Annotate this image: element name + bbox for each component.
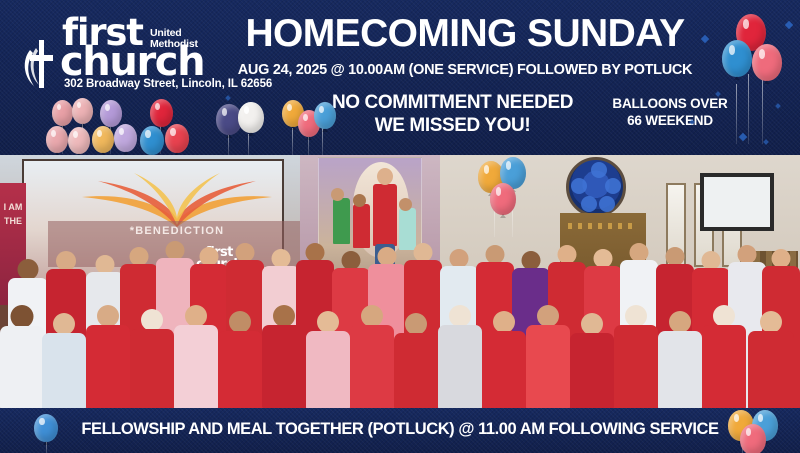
sparkle-icon bbox=[775, 103, 781, 109]
balloon-string bbox=[748, 74, 749, 144]
person bbox=[262, 305, 306, 408]
event-tagline: NO COMMITMENT NEEDED WE MISSED YOU! bbox=[300, 91, 605, 137]
person bbox=[174, 305, 218, 408]
person bbox=[130, 309, 174, 408]
person bbox=[0, 305, 44, 408]
person bbox=[526, 305, 570, 408]
balloon-blue bbox=[34, 414, 58, 442]
person bbox=[306, 311, 350, 408]
balloonfest-note: BALLOONS OVER 66 WEEKEND bbox=[600, 96, 740, 130]
hanging-display-frame bbox=[700, 173, 774, 231]
header-banner: first United Methodist church 302 Broadw… bbox=[0, 0, 800, 155]
rose-stained-glass-window bbox=[566, 157, 626, 217]
balloon-red bbox=[165, 124, 189, 153]
balloon-purple bbox=[114, 124, 137, 152]
balloon-blue bbox=[722, 40, 752, 77]
logo-text-church: church bbox=[60, 42, 204, 82]
balloon-pink bbox=[490, 183, 516, 215]
adult-head bbox=[377, 168, 393, 185]
child-head bbox=[353, 194, 366, 207]
church-logo: first United Methodist church 302 Broadw… bbox=[22, 16, 234, 98]
person bbox=[86, 305, 130, 408]
sparkle-icon bbox=[785, 21, 793, 29]
person bbox=[482, 311, 526, 408]
balloon-string bbox=[248, 134, 249, 155]
footer-text: FELLOWSHIP AND MEAL TOGETHER (POTLUCK) @… bbox=[0, 421, 800, 438]
screen-caption-text: *BENEDICTION bbox=[48, 225, 306, 237]
sparkle-icon bbox=[739, 133, 747, 141]
child-head bbox=[399, 198, 412, 211]
page-title: HOMECOMING SUNDAY bbox=[210, 14, 720, 53]
person bbox=[394, 313, 438, 408]
child-green bbox=[333, 198, 350, 244]
congregation-photo: *BENEDICTION first church 302 Broadway S… bbox=[0, 155, 800, 408]
person bbox=[218, 311, 262, 408]
logo-address: 302 Broadway Street, Lincoln, IL 62656 bbox=[64, 78, 272, 90]
adult-red bbox=[373, 184, 397, 246]
balloon-pink bbox=[752, 44, 782, 81]
sparkle-icon bbox=[763, 139, 769, 145]
balloon-pink bbox=[52, 100, 73, 126]
balloon-gold bbox=[92, 126, 114, 153]
balloon-pink bbox=[740, 424, 766, 453]
event-dateline: AUG 24, 2025 @ 10.00AM (ONE SERVICE) FOL… bbox=[200, 63, 730, 78]
balloon-red bbox=[150, 99, 173, 127]
balloonfest-line-1: BALLOONS OVER bbox=[612, 96, 727, 111]
person bbox=[570, 313, 614, 408]
balloon-pink bbox=[68, 127, 90, 154]
homecoming-sunday-poster: first United Methodist church 302 Broadw… bbox=[0, 0, 800, 453]
person bbox=[438, 305, 482, 408]
balloon-pink bbox=[72, 98, 93, 124]
person bbox=[350, 305, 394, 408]
balloon-white bbox=[238, 102, 264, 133]
balloon-string bbox=[736, 84, 737, 144]
person bbox=[614, 305, 658, 408]
person bbox=[42, 313, 86, 408]
tagline-line-2: WE MISSED YOU! bbox=[375, 115, 531, 136]
person bbox=[658, 311, 702, 408]
balloonfest-line-2: 66 WEEKEND bbox=[627, 113, 713, 128]
balloon-purple bbox=[100, 100, 122, 127]
balloon-blue bbox=[314, 102, 336, 129]
child-red bbox=[353, 204, 370, 248]
balloon-string bbox=[322, 128, 323, 155]
balloon-blue bbox=[140, 126, 164, 155]
footer-banner: FELLOWSHIP AND MEAL TOGETHER (POTLUCK) @… bbox=[0, 408, 800, 453]
balloon-string bbox=[292, 128, 293, 155]
balloon-string bbox=[762, 80, 763, 144]
person bbox=[748, 311, 794, 408]
balloon-pink bbox=[46, 126, 68, 153]
tagline-line-1: NO COMMITMENT NEEDED bbox=[332, 92, 573, 113]
person bbox=[702, 305, 746, 408]
child-head bbox=[331, 188, 344, 201]
